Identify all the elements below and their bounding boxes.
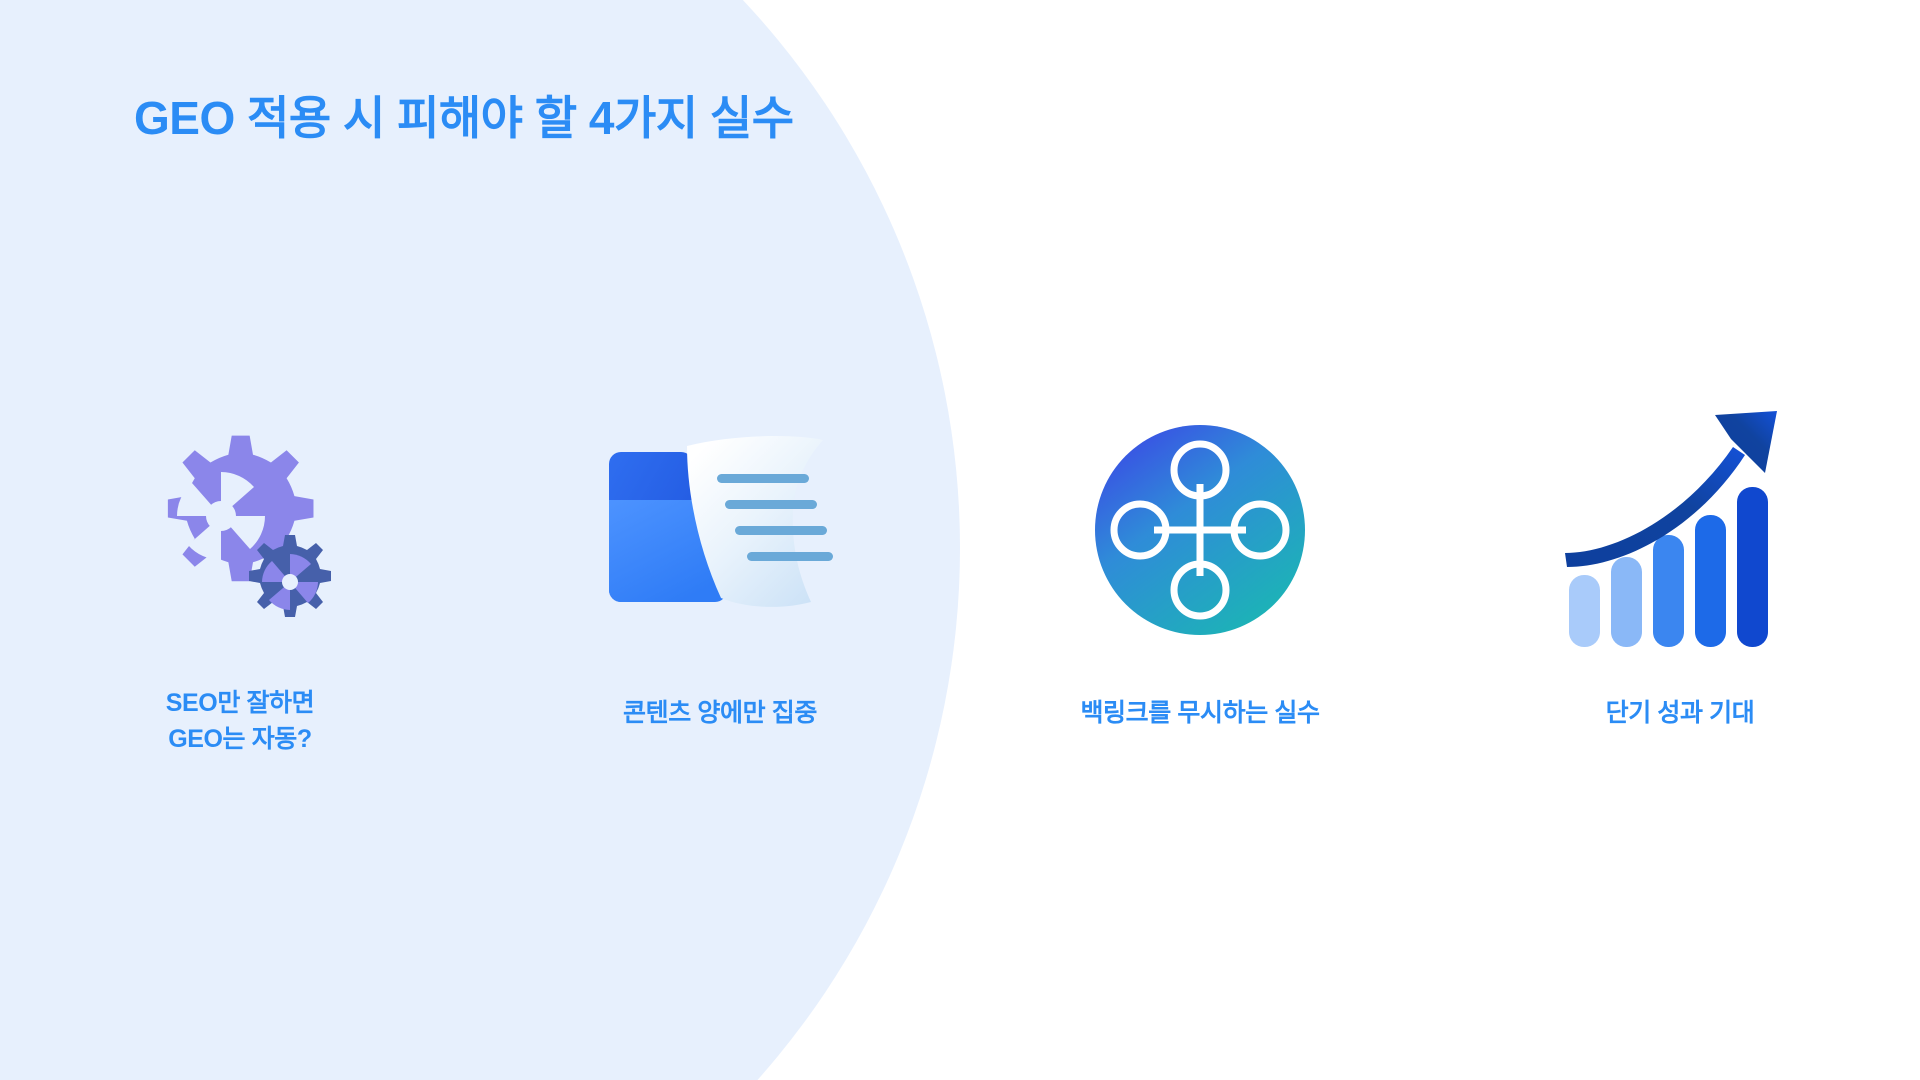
mistake-card-label: 단기 성과 기대 bbox=[1606, 696, 1755, 732]
chart-bars bbox=[1569, 487, 1768, 647]
mistake-card-label: 콘텐츠 양에만 집중 bbox=[623, 696, 817, 732]
growth-chart-icon-svg bbox=[1555, 405, 1805, 655]
mistake-card-row: SEO만 잘하면 GEO는 자동? bbox=[0, 400, 1920, 820]
mistake-card-label: 백링크를 무시하는 실수 bbox=[1080, 696, 1319, 732]
chart-bar-2 bbox=[1611, 557, 1642, 647]
mistake-card-label: SEO만 잘하면 GEO는 자동? bbox=[166, 686, 315, 757]
gear-large-hub bbox=[206, 501, 236, 531]
chart-bar-4 bbox=[1695, 515, 1726, 647]
gears-icon bbox=[110, 400, 370, 660]
network-nodes-icon-svg bbox=[1092, 422, 1308, 638]
folder-document-icon-svg bbox=[595, 430, 845, 630]
network-nodes-icon bbox=[1070, 400, 1330, 660]
chart-bar-3 bbox=[1653, 535, 1684, 647]
growth-chart-icon bbox=[1550, 400, 1810, 660]
page-title: GEO 적용 시 피해야 할 4가지 실수 bbox=[134, 82, 794, 148]
mistake-card-content-quantity[interactable]: 콘텐츠 양에만 집중 bbox=[480, 400, 960, 820]
folder-document-icon bbox=[590, 400, 850, 660]
mistake-card-ignoring-backlinks[interactable]: 백링크를 무시하는 실수 bbox=[960, 400, 1440, 820]
chart-bar-5 bbox=[1737, 487, 1768, 647]
gears-icon-svg bbox=[125, 415, 355, 645]
mistake-card-short-term-results[interactable]: 단기 성과 기대 bbox=[1440, 400, 1920, 820]
chart-bar-1 bbox=[1569, 575, 1600, 647]
gear-small-hub bbox=[282, 574, 298, 590]
mistake-card-seo-only[interactable]: SEO만 잘하면 GEO는 자동? bbox=[0, 400, 480, 820]
